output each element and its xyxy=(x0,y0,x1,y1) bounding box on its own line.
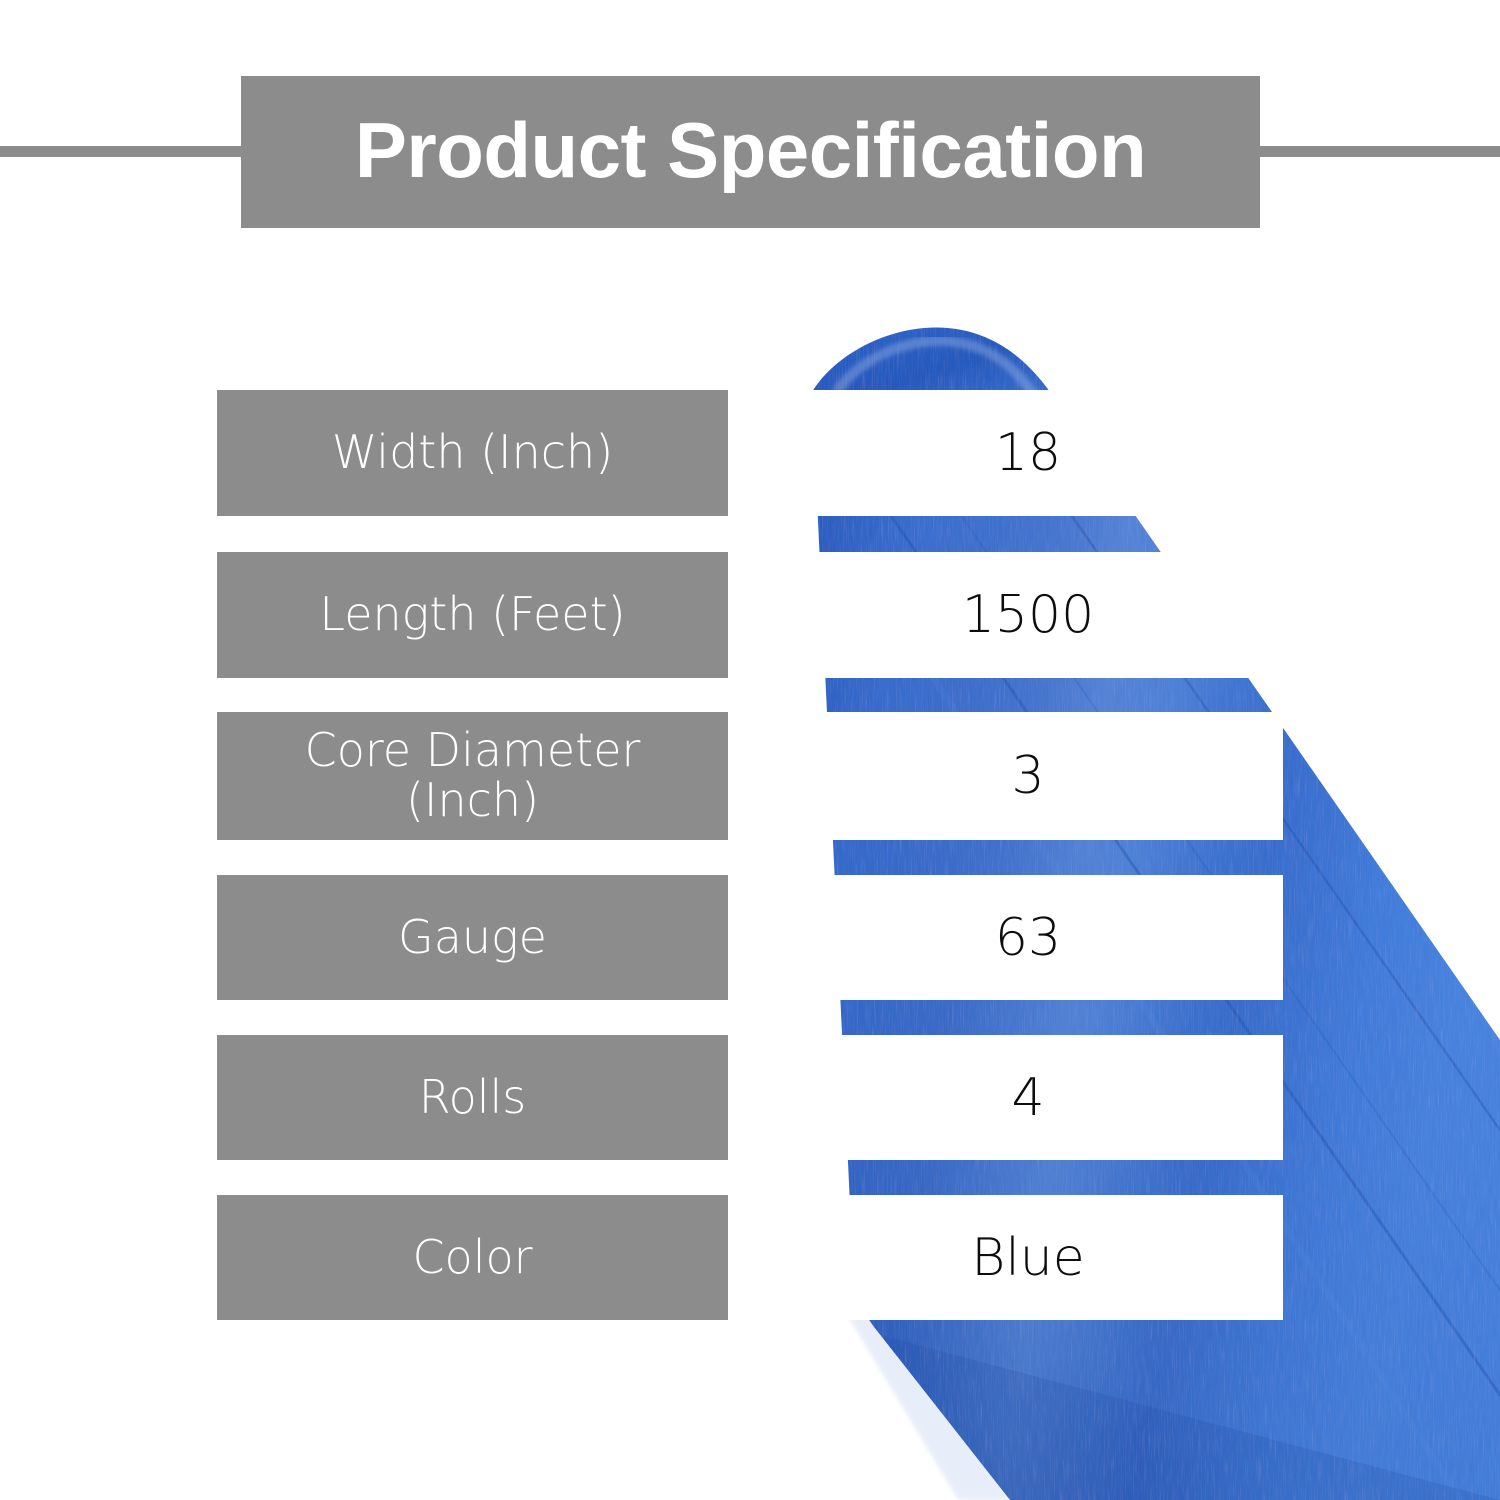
table-row: Gauge 63 xyxy=(217,875,1283,1000)
specification-table: Width (Inch) 18 Length (Feet) 1500 Core … xyxy=(0,0,1500,1500)
spec-label-cell: Rolls xyxy=(217,1035,728,1160)
spec-label-text: Rolls xyxy=(419,1073,527,1123)
spec-value-cell: 4 xyxy=(773,1035,1283,1160)
spec-label-text: Gauge xyxy=(398,913,547,963)
spec-value-cell: 1500 xyxy=(773,552,1283,678)
spec-value-cell: Blue xyxy=(773,1195,1283,1320)
spec-value-cell: 63 xyxy=(773,875,1283,1000)
spec-label-text: Color xyxy=(412,1233,532,1283)
table-row: Width (Inch) 18 xyxy=(217,390,1283,516)
spec-label-cell: Core Diameter (Inch) xyxy=(217,712,728,840)
spec-value-text: Blue xyxy=(971,1232,1084,1284)
spec-value-text: 18 xyxy=(995,427,1061,479)
spec-value-cell: 3 xyxy=(773,712,1283,840)
spec-value-text: 1500 xyxy=(962,589,1094,641)
spec-value-text: 3 xyxy=(1011,750,1044,802)
spec-value-text: 63 xyxy=(995,912,1061,964)
spec-label-cell: Gauge xyxy=(217,875,728,1000)
table-row: Length (Feet) 1500 xyxy=(217,552,1283,678)
spec-label-cell: Length (Feet) xyxy=(217,552,728,678)
table-row: Rolls 4 xyxy=(217,1035,1283,1160)
table-row: Color Blue xyxy=(217,1195,1283,1320)
spec-value-cell: 18 xyxy=(773,390,1283,516)
spec-value-text: 4 xyxy=(1011,1072,1044,1124)
table-row: Core Diameter (Inch) 3 xyxy=(217,712,1283,840)
spec-label-text: Length (Feet) xyxy=(319,590,625,640)
product-spec-infographic: Product Specification Width (Inch) 18 Le… xyxy=(0,0,1500,1500)
spec-label-text: Width (Inch) xyxy=(332,428,613,478)
spec-label-cell: Width (Inch) xyxy=(217,390,728,516)
spec-label-text: Core Diameter (Inch) xyxy=(305,726,641,825)
spec-label-cell: Color xyxy=(217,1195,728,1320)
